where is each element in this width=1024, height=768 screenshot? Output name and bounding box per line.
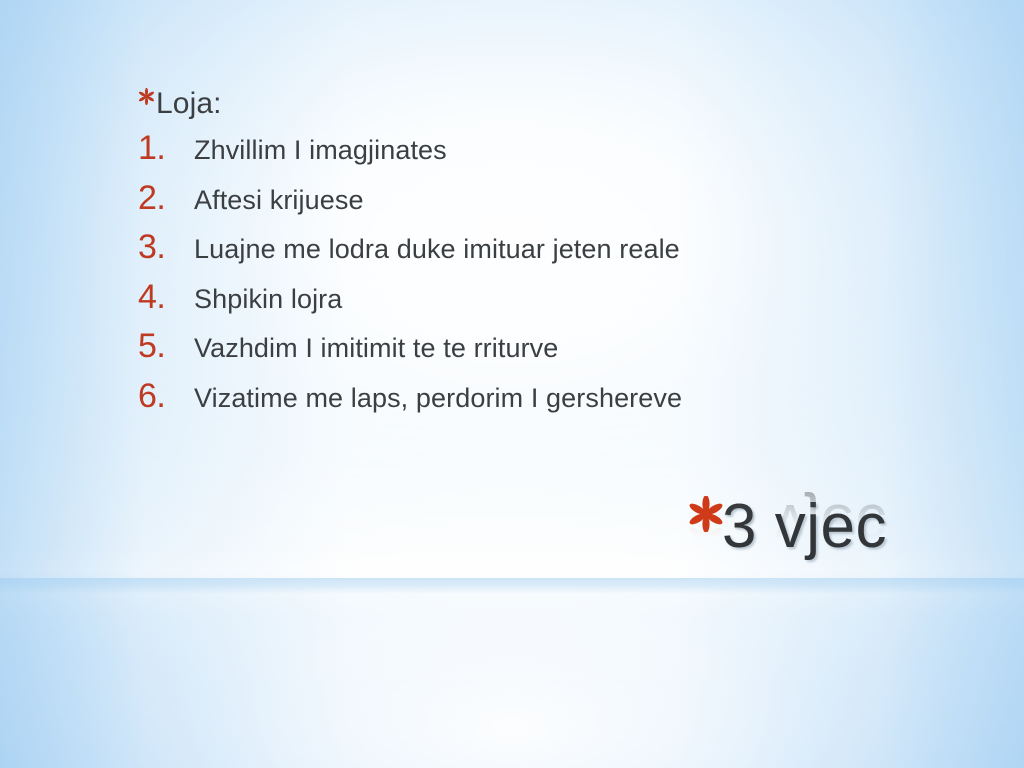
list-item: 1. Zhvillim I imagjinates — [138, 131, 682, 181]
list-item: 5. Vazhdim I imitimit te te rriturve — [138, 329, 682, 379]
list-item-number: 5. — [138, 329, 194, 363]
list-item-label: Aftesi krijuese — [194, 185, 364, 215]
heading-label: Loja: — [156, 86, 222, 122]
list-item-number: 3. — [138, 230, 194, 264]
list-item-number: 1. — [138, 131, 194, 165]
numbered-list: 1. Zhvillim I imagjinates 2. Aftesi krij… — [138, 131, 682, 428]
list-item: 3. Luajne me lodra duke imituar jeten re… — [138, 230, 682, 280]
asterisk-star-icon — [688, 496, 724, 532]
list-item-label: Vizatime me laps, perdorim I gershereve — [194, 383, 682, 413]
list-item-number: 2. — [138, 181, 194, 215]
list-item-number: 6. — [138, 379, 194, 413]
headline-block: 3 vjec — [688, 492, 978, 662]
list-item: 2. Aftesi krijuese — [138, 181, 682, 231]
slide-canvas: Loja: 1. Zhvillim I imagjinates 2. Aftes… — [0, 0, 1024, 768]
headline-row: 3 vjec — [688, 492, 978, 566]
list-item-label: Vazhdim I imitimit te te rriturve — [194, 333, 558, 363]
list-item-label: Zhvillim I imagjinates — [194, 135, 447, 165]
heading-row: Loja: — [138, 86, 222, 122]
asterisk-star-icon — [138, 88, 155, 105]
list-item: 4. Shpikin lojra — [138, 280, 682, 330]
list-item: 6. Vizatime me laps, perdorim I gershere… — [138, 379, 682, 429]
headline-label: 3 vjec — [722, 492, 887, 562]
list-item-label: Luajne me lodra duke imituar jeten reale — [194, 234, 680, 264]
slide-content: Loja: 1. Zhvillim I imagjinates 2. Aftes… — [0, 0, 1024, 768]
list-item-label: Shpikin lojra — [194, 284, 342, 314]
list-item-number: 4. — [138, 280, 194, 314]
